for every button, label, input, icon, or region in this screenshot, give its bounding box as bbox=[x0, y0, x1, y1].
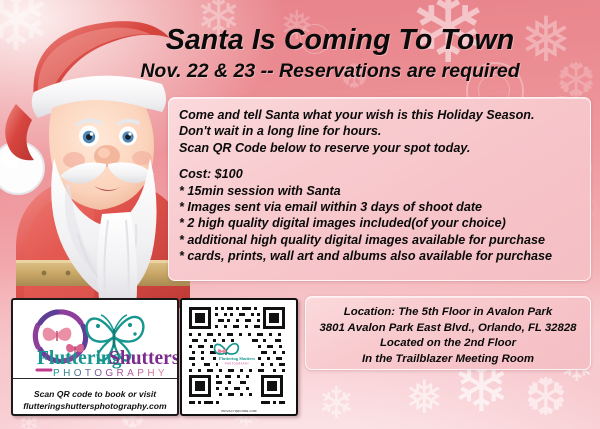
bullet-item: * 2 high quality digital images included… bbox=[179, 215, 590, 231]
logo-caption-line1: Scan QR code to book or visit bbox=[13, 389, 177, 400]
logo-caption: Scan QR code to book or visit fluttering… bbox=[13, 389, 177, 412]
svg-text:Shutters: Shutters bbox=[109, 348, 177, 369]
intro-line: Don't wait in a long line for hours. bbox=[179, 123, 590, 139]
qr-code-image: Fluttering Shutters PHOTOGRAPHY FLOWCODE bbox=[182, 300, 292, 410]
bullet-item: * cards, prints, wall art and albums als… bbox=[179, 248, 590, 264]
page-subtitle: Nov. 22 & 23 -- Reservations are require… bbox=[75, 60, 585, 83]
snowflake-icon: ❅ bbox=[405, 374, 444, 420]
location-panel: Location: The 5th Floor in Avalon Park 3… bbox=[305, 296, 591, 370]
cost-line: Cost: $100 bbox=[179, 166, 590, 182]
brand-logo-art: Fluttering Shutters PHOTOGRAPHY bbox=[13, 300, 177, 378]
logo-caption-line2: flutteringshuttersphotography.com bbox=[13, 401, 177, 412]
svg-text:PHOTOGRAPHY: PHOTOGRAPHY bbox=[53, 368, 168, 378]
qr-code-card[interactable]: Fluttering Shutters PHOTOGRAPHY FLOWCODE… bbox=[180, 298, 298, 416]
location-line: 3801 Avalon Park East Blvd., Orlando, FL… bbox=[312, 321, 584, 337]
qr-corner-label: FLOWCODE bbox=[264, 396, 281, 400]
page-title: Santa Is Coming To Town bbox=[90, 24, 590, 57]
bullet-item: * 15min session with Santa bbox=[179, 183, 590, 199]
brand-logo-card: Fluttering Shutters PHOTOGRAPHY Scan QR … bbox=[11, 298, 179, 416]
bullet-item: * Images sent via email within 3 days of… bbox=[179, 199, 590, 215]
logo-divider bbox=[13, 378, 177, 379]
poster-canvas: ❄ ❅ ❆ ❄ ❅ ❆ ❄ ❄ ❅ ❆ ❄ ❄ ❅ ❆ ❄ bbox=[0, 0, 600, 429]
intro-line: Come and tell Santa what your wish is th… bbox=[179, 107, 590, 123]
details-panel: Come and tell Santa what your wish is th… bbox=[168, 97, 591, 281]
svg-text:Fluttering Shutters: Fluttering Shutters bbox=[219, 356, 255, 361]
snowflake-icon: ❆ bbox=[524, 372, 568, 424]
spacer bbox=[179, 156, 590, 166]
location-line: In the Trailblazer Meeting Room bbox=[312, 352, 584, 368]
svg-text:PHOTOGRAPHY: PHOTOGRAPHY bbox=[225, 362, 250, 366]
bullet-item: * additional high quality digital images… bbox=[179, 232, 590, 248]
location-line: Location: The 5th Floor in Avalon Park bbox=[312, 305, 584, 321]
qr-fineprint: PRIVACYQRCODE.COM bbox=[182, 409, 296, 413]
intro-line: Scan QR Code below to reserve your spot … bbox=[179, 140, 590, 156]
location-line: Located on the 2nd Floor bbox=[312, 336, 584, 352]
snowflake-icon: ❄ bbox=[318, 382, 355, 426]
